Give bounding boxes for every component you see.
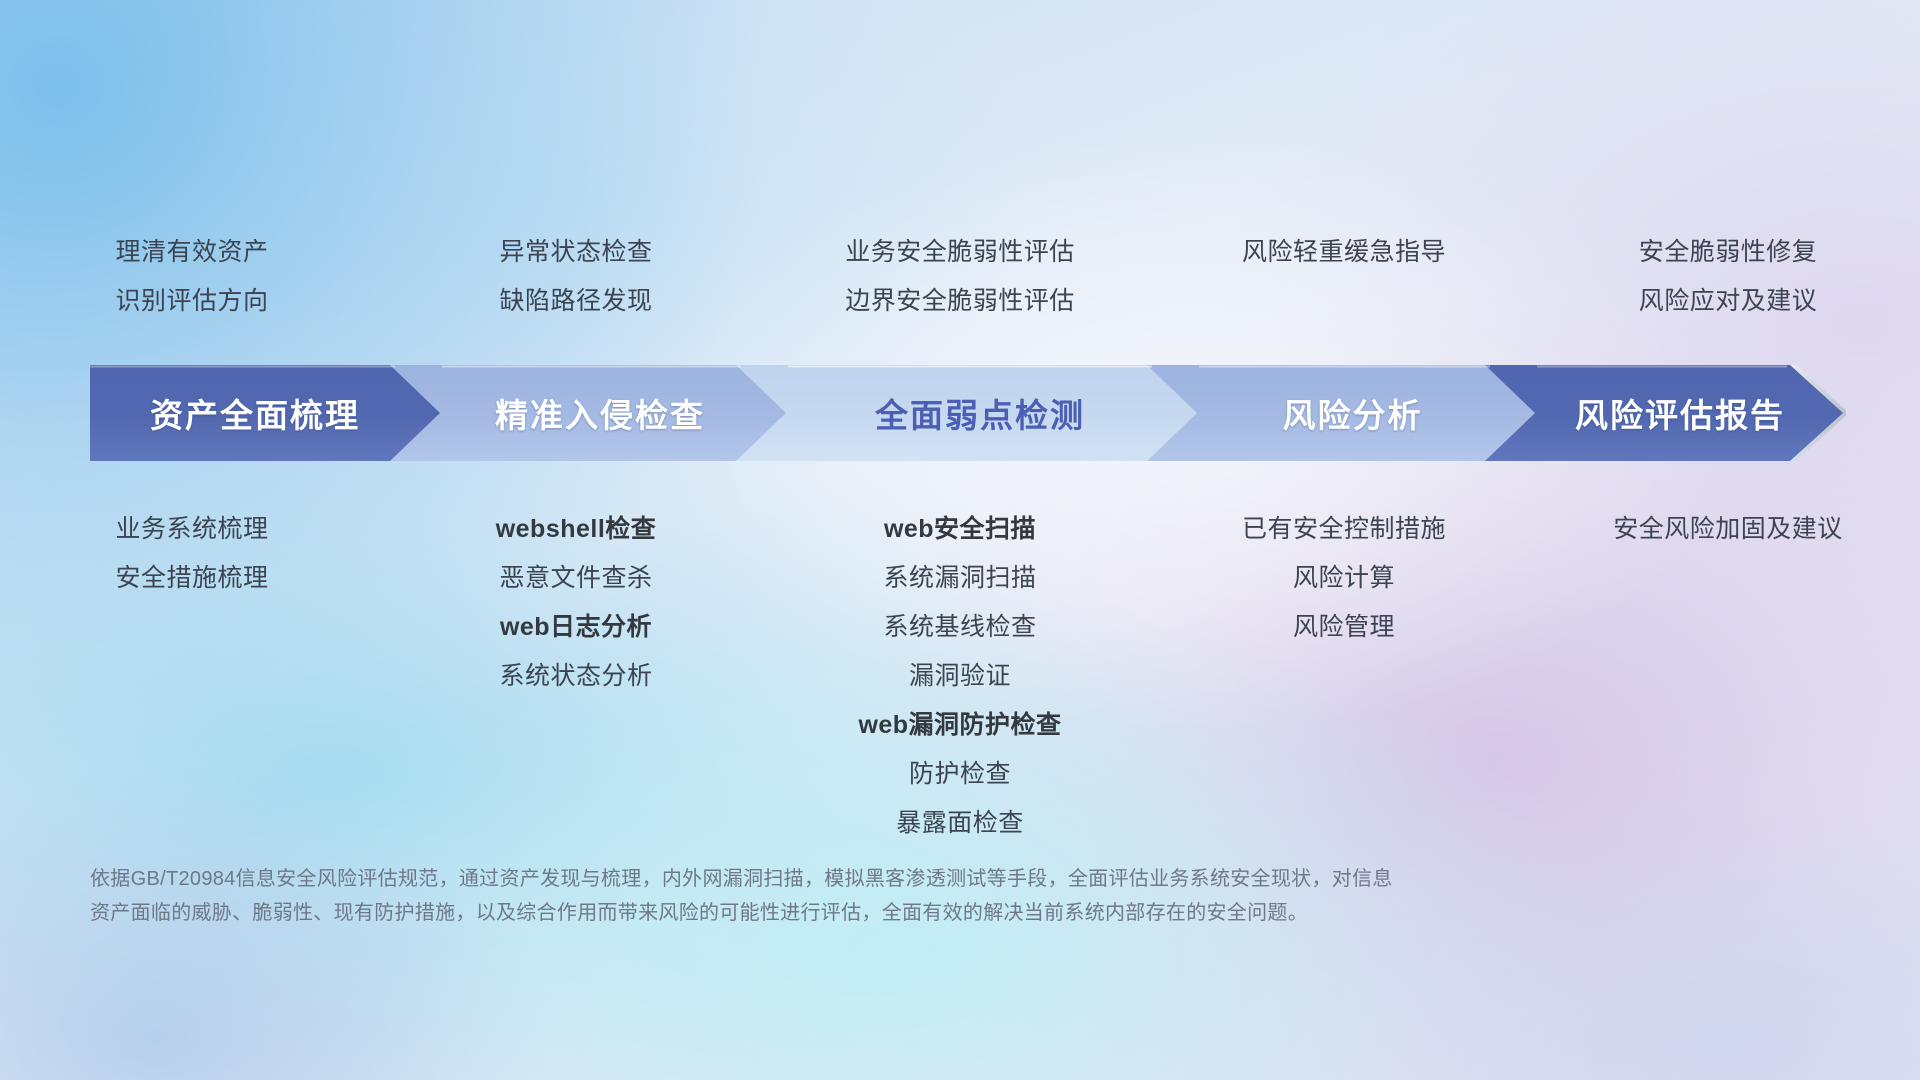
list-item: 暴露面检查 — [896, 799, 1024, 848]
caption-text: 异常状态检查 — [499, 228, 652, 277]
chevron-shape-4 — [1147, 365, 1543, 461]
top-column-report: 安全脆弱性修复 风险应对及建议 — [1536, 228, 1920, 348]
list-item: web日志分析 — [500, 603, 652, 652]
bottom-column-asset: 业务系统梳理 安全措施梳理 — [0, 505, 384, 603]
bottom-column-risk-analysis: 已有安全控制措施 风险计算 风险管理 — [1152, 505, 1536, 652]
top-column-intrusion: 异常状态检查 缺陷路径发现 — [384, 228, 768, 348]
caption-text: 安全脆弱性修复 — [1639, 228, 1818, 277]
list-item: 系统基线检查 — [883, 603, 1036, 652]
top-column-asset: 理清有效资产 识别评估方向 — [0, 228, 384, 348]
chevron-shape-1 — [90, 365, 448, 461]
slide-canvas: 理清有效资产 识别评估方向 异常状态检查 缺陷路径发现 业务安全脆弱性评估 边界… — [0, 0, 1920, 1080]
chevron-shape-3 — [736, 365, 1205, 461]
caption-text: 识别评估方向 — [115, 277, 268, 326]
caption-text: 风险轻重缓急指导 — [1242, 228, 1446, 277]
bottom-column-intrusion: webshell检查 恶意文件查杀 web日志分析 系统状态分析 — [384, 505, 768, 701]
bottom-column-report: 安全风险加固及建议 — [1536, 505, 1920, 554]
caption-text: 理清有效资产 — [115, 228, 268, 277]
list-item: webshell检查 — [496, 505, 657, 554]
footer-line-2: 资产面临的威胁、脆弱性、现有防护措施，以及综合作用而带来风险的可能性进行评估，全… — [90, 896, 1590, 930]
footer-description: 依据GB/T20984信息安全风险评估规范，通过资产发现与梳理，内外网漏洞扫描，… — [90, 862, 1590, 930]
caption-text: 边界安全脆弱性评估 — [845, 277, 1075, 326]
bottom-column-weakness: web安全扫描 系统漏洞扫描 系统基线检查 漏洞验证 web漏洞防护检查 防护检… — [768, 505, 1152, 848]
top-column-risk-analysis: 风险轻重缓急指导 — [1152, 228, 1536, 348]
list-item: 防护检查 — [909, 750, 1011, 799]
list-item: 漏洞验证 — [909, 652, 1011, 701]
process-chevron-banner: 资产全面梳理 精准入侵检查 全面弱点检测 风险分析 风险评估报告 — [90, 365, 1846, 461]
chevron-shape-2 — [390, 365, 794, 461]
list-item: web漏洞防护检查 — [858, 701, 1061, 750]
list-item: 系统漏洞扫描 — [883, 554, 1036, 603]
list-item: 安全措施梳理 — [115, 554, 268, 603]
list-item: 系统状态分析 — [499, 652, 652, 701]
list-item: 恶意文件查杀 — [499, 554, 652, 603]
list-item: web安全扫描 — [884, 505, 1036, 554]
list-item: 已有安全控制措施 — [1242, 505, 1446, 554]
top-captions-row: 理清有效资产 识别评估方向 异常状态检查 缺陷路径发现 业务安全脆弱性评估 边界… — [0, 228, 1920, 348]
top-column-weakness: 业务安全脆弱性评估 边界安全脆弱性评估 — [768, 228, 1152, 348]
list-item: 风险计算 — [1293, 554, 1395, 603]
caption-text: 业务安全脆弱性评估 — [845, 228, 1075, 277]
chevron-shape-5 — [1485, 365, 1843, 461]
list-item: 安全风险加固及建议 — [1613, 505, 1843, 554]
caption-text: 风险应对及建议 — [1639, 277, 1818, 326]
bottom-captions-row: 业务系统梳理 安全措施梳理 webshell检查 恶意文件查杀 web日志分析 … — [0, 505, 1920, 848]
list-item: 业务系统梳理 — [115, 505, 268, 554]
list-item: 风险管理 — [1293, 603, 1395, 652]
footer-line-1: 依据GB/T20984信息安全风险评估规范，通过资产发现与梳理，内外网漏洞扫描，… — [90, 862, 1590, 896]
caption-text: 缺陷路径发现 — [499, 277, 652, 326]
